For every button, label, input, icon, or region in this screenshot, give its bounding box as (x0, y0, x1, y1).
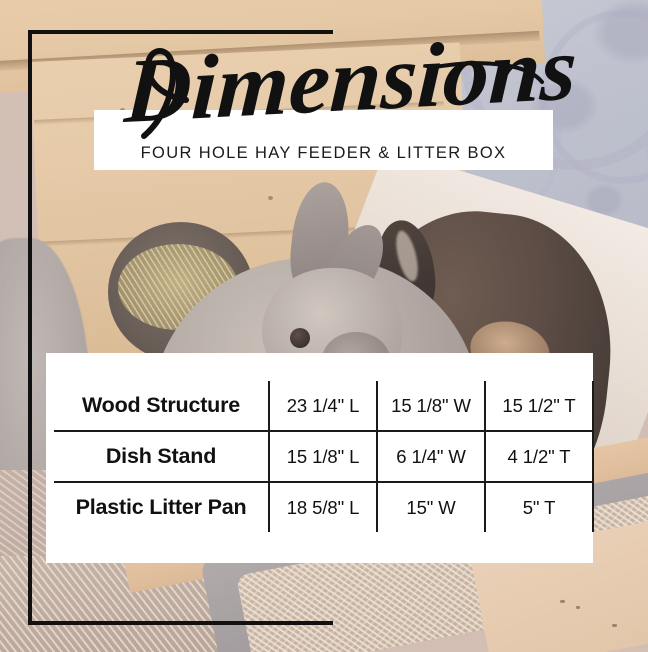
row-height-dish-stand: 4 1/2" T (485, 431, 593, 482)
row-height-wood-structure: 15 1/2" T (485, 381, 593, 431)
row-label-wood-structure: Wood Structure (54, 381, 269, 431)
row-length-plastic-litter-pan: 18 5/8" L (269, 482, 377, 532)
wood-knot (268, 196, 273, 200)
bedding-speck (612, 624, 617, 627)
row-length-wood-structure: 23 1/4" L (269, 381, 377, 431)
table-row: Wood Structure 23 1/4" L 15 1/8" W 15 1/… (54, 381, 593, 431)
row-width-plastic-litter-pan: 15" W (377, 482, 485, 532)
row-label-dish-stand: Dish Stand (54, 431, 269, 482)
table-row: Plastic Litter Pan 18 5/8" L 15" W 5" T (54, 482, 593, 532)
bedding-speck (560, 600, 565, 603)
frame-top-line (28, 30, 333, 34)
dimensions-table: Wood Structure 23 1/4" L 15 1/8" W 15 1/… (54, 381, 594, 532)
banner-subtitle: FOUR HOLE HAY FEEDER & LITTER BOX (94, 144, 553, 163)
dimensions-table-panel: Wood Structure 23 1/4" L 15 1/8" W 15 1/… (46, 353, 593, 563)
grey-rabbit-eye (290, 328, 310, 348)
infographic-canvas: Dimensions FOUR HOLE HAY FEEDER & LITTER… (0, 0, 648, 652)
row-height-plastic-litter-pan: 5" T (485, 482, 593, 532)
row-width-dish-stand: 6 1/4" W (377, 431, 485, 482)
row-length-dish-stand: 15 1/8" L (269, 431, 377, 482)
bedding-speck (576, 606, 580, 609)
table-row: Dish Stand 15 1/8" L 6 1/4" W 4 1/2" T (54, 431, 593, 482)
frame-bottom-line (28, 621, 333, 625)
row-label-plastic-litter-pan: Plastic Litter Pan (54, 482, 269, 532)
row-width-wood-structure: 15 1/8" W (377, 381, 485, 431)
frame-left-line (28, 30, 32, 625)
